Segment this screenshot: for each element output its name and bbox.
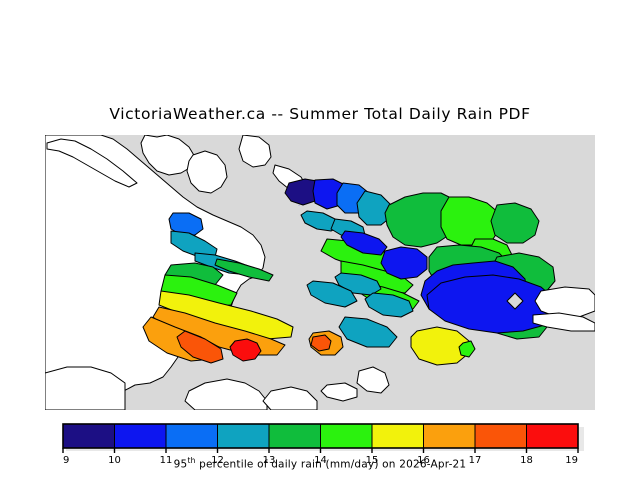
colorbar-caption: 95th percentile of daily rain (mm/day) o… [0,456,640,471]
colorbar-swatch [115,424,167,448]
colorbar-swatch [63,424,115,448]
caption-rest: percentile of daily rain (mm/day) on 202… [196,459,467,471]
colorbar-swatch [424,424,476,448]
colorbar-swatch [321,424,373,448]
caption-percentile-number: 95 [174,459,188,471]
caption-percentile-suffix: th [187,456,195,465]
colorbar-swatches [63,424,578,448]
map-svg [45,135,595,410]
figure-title: VictoriaWeather.ca -- Summer Total Daily… [0,105,640,123]
colorbar-swatch [269,424,321,448]
colorbar-swatch [218,424,270,448]
map-panel [45,135,595,410]
colorbar-swatch [372,424,424,448]
weather-map-figure: VictoriaWeather.ca -- Summer Total Daily… [0,0,640,480]
colorbar-swatch [166,424,218,448]
far-east-white-land [535,287,595,317]
colorbar-swatch [475,424,527,448]
colorbar-swatch [527,424,579,448]
